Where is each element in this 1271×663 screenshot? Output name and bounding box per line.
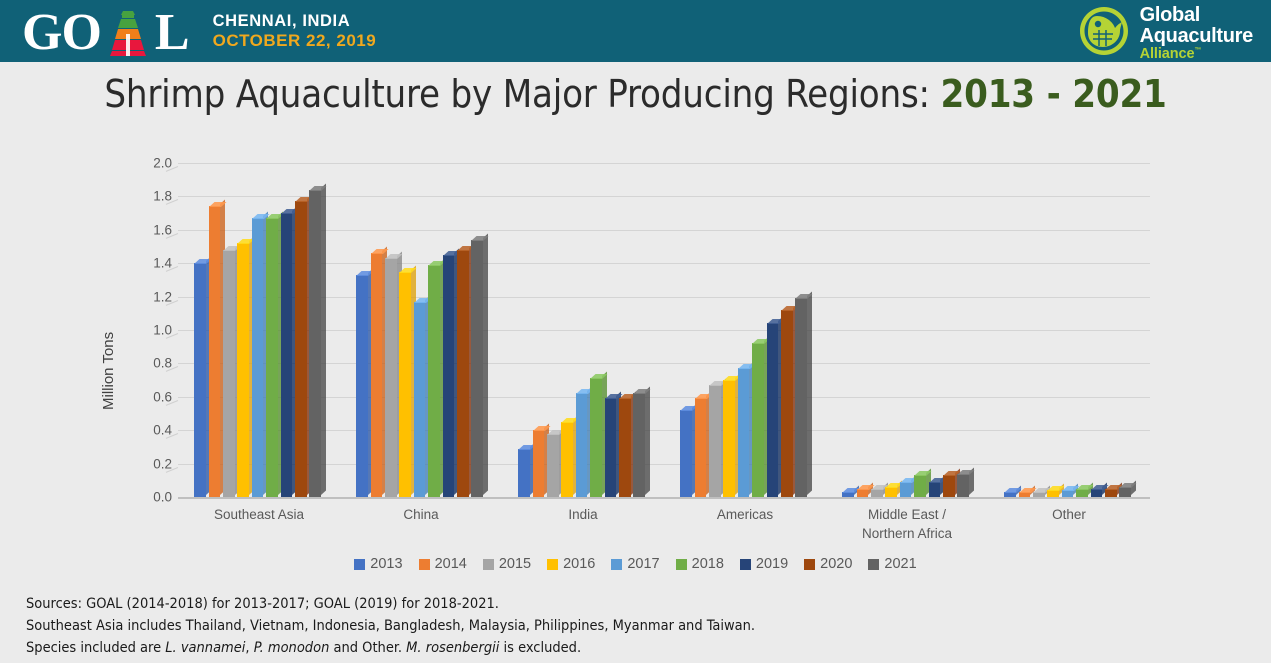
legend-label: 2014 [435, 556, 467, 572]
chart-legend: 201320142015201620172018201920202021 [0, 556, 1271, 572]
bar-body [533, 430, 545, 497]
bar[interactable] [900, 482, 912, 497]
bar-face [266, 218, 278, 497]
bar[interactable] [1019, 492, 1031, 497]
bar[interactable] [871, 489, 883, 497]
bar-face [605, 398, 617, 497]
bar-face [533, 430, 545, 497]
bar[interactable] [1091, 489, 1103, 497]
bar[interactable] [590, 378, 602, 497]
bar-body [309, 190, 321, 497]
bar-face [943, 475, 955, 497]
event-date: OCTOBER 22, 2019 [213, 31, 377, 52]
goal-logo-letter-g: G [22, 10, 61, 56]
legend-swatch-icon [419, 559, 430, 570]
bar-body [209, 206, 221, 497]
bar-body [590, 378, 602, 497]
footnote-sources: Sources: GOAL (2014-2018) for 2013-2017;… [26, 593, 1126, 615]
bar-body [605, 398, 617, 497]
bar[interactable] [914, 475, 926, 497]
bar-body [752, 343, 764, 497]
legend-label: 2016 [563, 556, 595, 572]
global-aquaculture-alliance-logo: Global Aquaculture Alliance™ [1077, 4, 1253, 63]
bar[interactable] [1004, 492, 1016, 497]
bar[interactable] [605, 398, 617, 497]
footnote-southeast-asia: Southeast Asia includes Thailand, Vietna… [26, 615, 1126, 637]
bar-body [1119, 487, 1131, 497]
bar-side [321, 183, 326, 495]
bar-body [781, 310, 793, 497]
bar[interactable] [561, 422, 573, 497]
bar-body [1076, 489, 1088, 497]
x-axis-label-2: China [340, 506, 502, 525]
bar-face [414, 302, 426, 497]
bar-body [457, 250, 469, 497]
x-axis-label-line: China [340, 506, 502, 525]
bar[interactable] [723, 380, 735, 497]
bar-face [723, 380, 735, 497]
bar-body [914, 475, 926, 497]
bar-face [356, 275, 368, 497]
chart-bars [178, 140, 1150, 500]
bar-body [547, 434, 559, 497]
legend-swatch-icon [868, 559, 879, 570]
bar-body [194, 263, 206, 497]
bar-side [645, 387, 650, 495]
bar-body [900, 482, 912, 497]
bar-face [1062, 490, 1074, 497]
bar-face [680, 410, 692, 497]
bar[interactable] [633, 393, 645, 497]
bar-face [371, 253, 383, 497]
x-axis-label-line: Northern Africa [826, 525, 988, 544]
legend-swatch-icon [483, 559, 494, 570]
bar[interactable] [795, 298, 807, 497]
bar[interactable] [619, 398, 631, 497]
bar-body [842, 492, 854, 497]
bar[interactable] [252, 218, 264, 497]
event-header-bar: G O L CHENNAI, INDIA OCTOBER 22, 2019 [0, 0, 1271, 62]
bar-body [414, 302, 426, 497]
bar-face [885, 487, 897, 497]
bar-face [929, 482, 941, 497]
bar-body [1105, 489, 1117, 497]
bar-face [738, 368, 750, 497]
bar-body [633, 393, 645, 497]
bar-body [857, 489, 869, 497]
bar-body [223, 250, 235, 497]
legend-swatch-icon [740, 559, 751, 570]
bar-body [561, 422, 573, 497]
bar[interactable] [1047, 490, 1059, 497]
bar-body [619, 398, 631, 497]
bar[interactable] [385, 258, 397, 497]
bar-body [428, 265, 440, 497]
legend-item-2017[interactable]: 2017 [611, 556, 659, 572]
bar-body [695, 398, 707, 497]
x-axis-label-line: India [502, 506, 664, 525]
bar[interactable] [428, 265, 440, 497]
legend-item-2019[interactable]: 2019 [740, 556, 788, 572]
y-tick-1.0: 1.0 [120, 323, 172, 338]
legend-label: 2015 [499, 556, 531, 572]
y-tick-0.6: 0.6 [120, 389, 172, 404]
legend-label: 2019 [756, 556, 788, 572]
bar-face [914, 475, 926, 497]
legend-label: 2018 [692, 556, 724, 572]
y-tick-1.6: 1.6 [120, 222, 172, 237]
bar-side [807, 292, 812, 495]
event-city: CHENNAI, INDIA [213, 11, 377, 31]
bar[interactable] [767, 323, 779, 497]
bar-face [281, 213, 293, 497]
legend-item-2021[interactable]: 2021 [868, 556, 916, 572]
legend-label: 2017 [627, 556, 659, 572]
bar-group [680, 140, 810, 500]
bar[interactable] [266, 218, 278, 497]
x-axis-label-line: Middle East / [826, 506, 988, 525]
bar-face [471, 240, 483, 497]
bar[interactable] [399, 272, 411, 497]
bar[interactable] [738, 368, 750, 497]
bar[interactable] [547, 434, 559, 497]
bar-face [237, 243, 249, 497]
goal-logo: G O L [22, 6, 189, 56]
bar-body [252, 218, 264, 497]
bar-body [356, 275, 368, 497]
bar-body [266, 218, 278, 497]
legend-item-2018[interactable]: 2018 [676, 556, 724, 572]
bar-face [795, 298, 807, 497]
bar-body [723, 380, 735, 497]
bar-body [957, 474, 969, 497]
x-axis-label-6: Other [988, 506, 1150, 525]
y-axis-ticks: 0.00.20.40.60.81.01.21.41.61.82.0 [120, 140, 172, 500]
legend-swatch-icon [611, 559, 622, 570]
bar-body [943, 475, 955, 497]
page-title-years: 2013 - 2021 [941, 72, 1167, 116]
bar-body [399, 272, 411, 497]
bar-face [576, 393, 588, 497]
bar-face [223, 250, 235, 497]
legend-item-2020[interactable]: 2020 [804, 556, 852, 572]
bar-group [194, 140, 324, 500]
bar-body [371, 253, 383, 497]
bar-face [209, 206, 221, 497]
y-tick-0.8: 0.8 [120, 356, 172, 371]
bar-face [752, 343, 764, 497]
gaa-line-aquaculture: Aquaculture [1140, 26, 1253, 47]
bar-body [237, 243, 249, 497]
bar[interactable] [709, 385, 721, 497]
legend-item-2014[interactable]: 2014 [419, 556, 467, 572]
bar[interactable] [443, 255, 455, 497]
legend-item-2015[interactable]: 2015 [483, 556, 531, 572]
bar-face [1119, 487, 1131, 497]
y-tick-0.2: 0.2 [120, 456, 172, 471]
page-title-main: Shrimp Aquaculture by Major Producing Re… [104, 72, 940, 116]
y-axis-label: Million Tons [100, 332, 117, 410]
gaa-fish-globe-icon [1077, 4, 1131, 63]
bar-face [900, 482, 912, 497]
bar[interactable] [371, 253, 383, 497]
bar[interactable] [237, 243, 249, 497]
bar[interactable] [518, 449, 530, 497]
bar-face [252, 218, 264, 497]
bar-body [795, 298, 807, 497]
bar-group [1004, 140, 1134, 500]
bar[interactable] [414, 302, 426, 497]
bar[interactable] [943, 475, 955, 497]
x-axis-label-line: Americas [664, 506, 826, 525]
bar-body [738, 368, 750, 497]
bar[interactable] [209, 206, 221, 497]
bar-face [767, 323, 779, 497]
bar-face [518, 449, 530, 497]
bar[interactable] [194, 263, 206, 497]
bar-face [547, 434, 559, 497]
bar-face [443, 255, 455, 497]
x-axis-label-line: Southeast Asia [178, 506, 340, 525]
bar[interactable] [576, 393, 588, 497]
bar-face [590, 378, 602, 497]
bar[interactable] [309, 190, 321, 497]
bar-body [295, 201, 307, 497]
legend-label: 2021 [884, 556, 916, 572]
page-title: Shrimp Aquaculture by Major Producing Re… [0, 72, 1271, 116]
bar[interactable] [471, 240, 483, 497]
bar-face [957, 474, 969, 497]
bar[interactable] [457, 250, 469, 497]
bar[interactable] [1119, 487, 1131, 497]
x-axis-label-5: Middle East /Northern Africa [826, 506, 988, 543]
legend-item-2013[interactable]: 2013 [354, 556, 402, 572]
bar-body [885, 487, 897, 497]
bar-face [295, 201, 307, 497]
bar-body [1091, 489, 1103, 497]
bar-group [356, 140, 486, 500]
bar-body [709, 385, 721, 497]
bar-body [443, 255, 455, 497]
bar-face [428, 265, 440, 497]
bar-group [842, 140, 972, 500]
bar-face [385, 258, 397, 497]
bar-body [385, 258, 397, 497]
bar-body [871, 489, 883, 497]
bar[interactable] [680, 410, 692, 497]
bar-body [929, 482, 941, 497]
event-info: CHENNAI, INDIA OCTOBER 22, 2019 [213, 11, 377, 52]
bar[interactable] [1076, 489, 1088, 497]
footnote-species: Species included are L. vannamei, P. mon… [26, 637, 1126, 659]
bar-body [1004, 492, 1016, 497]
bar-face [194, 263, 206, 497]
x-axis-label-4: Americas [664, 506, 826, 525]
bar-face [399, 272, 411, 497]
bar[interactable] [857, 489, 869, 497]
y-tick-0.4: 0.4 [120, 423, 172, 438]
bar[interactable] [1105, 489, 1117, 497]
bar-body [1062, 490, 1074, 497]
bar-body [767, 323, 779, 497]
y-tick-1.4: 1.4 [120, 256, 172, 271]
bar[interactable] [533, 430, 545, 497]
legend-swatch-icon [676, 559, 687, 570]
gaa-line-global: Global [1140, 5, 1253, 26]
footnotes: Sources: GOAL (2014-2018) for 2013-2017;… [26, 593, 1126, 659]
legend-swatch-icon [804, 559, 815, 570]
bar[interactable] [781, 310, 793, 497]
goal-logo-letter-o: O [61, 10, 100, 56]
gaa-line-alliance: Alliance™ [1140, 47, 1253, 62]
bar-side [483, 233, 488, 495]
x-axis-label-line: Other [988, 506, 1150, 525]
legend-swatch-icon [547, 559, 558, 570]
bar-body [1019, 492, 1031, 497]
legend-swatch-icon [354, 559, 365, 570]
bar[interactable] [281, 213, 293, 497]
bar-face [619, 398, 631, 497]
bar[interactable] [1033, 492, 1045, 497]
chart-plot-area: Million Tons 0.00.20.40.60.81.01.21.41.6… [0, 140, 1271, 560]
bar[interactable] [1062, 490, 1074, 497]
gaa-wordmark: Global Aquaculture Alliance™ [1140, 5, 1253, 61]
bar-face [457, 250, 469, 497]
bar-face [1047, 490, 1059, 497]
bar-body [471, 240, 483, 497]
y-tick-2.0: 2.0 [120, 156, 172, 171]
legend-label: 2020 [820, 556, 852, 572]
bar-body [281, 213, 293, 497]
bar-face [561, 422, 573, 497]
bar-face [309, 190, 321, 497]
bar[interactable] [752, 343, 764, 497]
bar[interactable] [842, 492, 854, 497]
y-tick-1.2: 1.2 [120, 289, 172, 304]
bar-face [781, 310, 793, 497]
goal-temple-icon [102, 10, 154, 56]
bar[interactable] [885, 487, 897, 497]
bar-body [1047, 490, 1059, 497]
bar[interactable] [295, 201, 307, 497]
bar-body [576, 393, 588, 497]
legend-item-2016[interactable]: 2016 [547, 556, 595, 572]
bar[interactable] [356, 275, 368, 497]
bar-face [709, 385, 721, 497]
bar[interactable] [957, 474, 969, 497]
y-tick-0.0: 0.0 [120, 490, 172, 505]
legend-label: 2013 [370, 556, 402, 572]
bar-body [1033, 492, 1045, 497]
bar[interactable] [929, 482, 941, 497]
x-axis-label-3: India [502, 506, 664, 525]
goal-logo-letter-l: L [155, 10, 189, 56]
bar-body [518, 449, 530, 497]
y-tick-1.8: 1.8 [120, 189, 172, 204]
bar-face [633, 393, 645, 497]
bar-face [695, 398, 707, 497]
bar[interactable] [223, 250, 235, 497]
bar-body [680, 410, 692, 497]
bar-group [518, 140, 648, 500]
x-axis-label-1: Southeast Asia [178, 506, 340, 525]
bar[interactable] [695, 398, 707, 497]
